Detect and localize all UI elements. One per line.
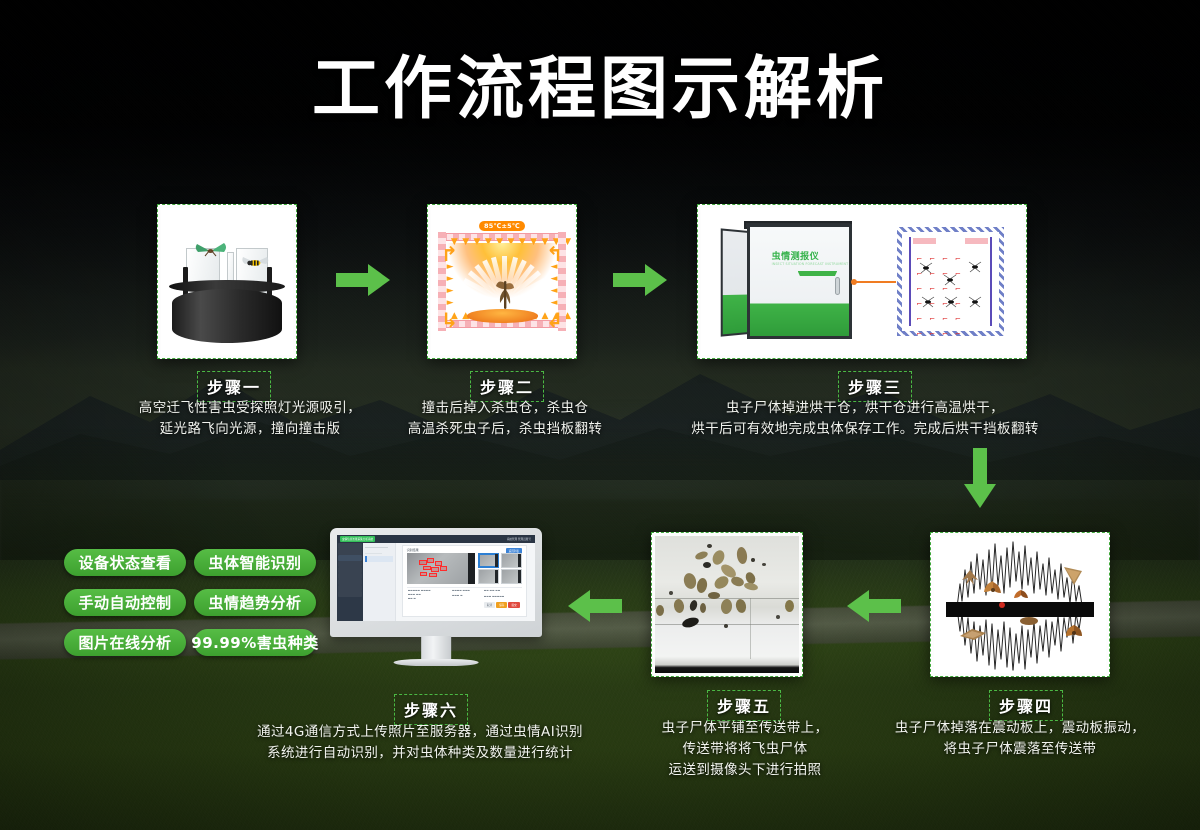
moth-specimen-7 — [1018, 613, 1040, 632]
step-3-description: 虫子尸体掉进烘干仓，烘干仓进行高温烘干， 烘干后可有效地完成虫体保存工作。完成后… — [645, 398, 1085, 440]
sidebar-item-active[interactable] — [338, 555, 362, 561]
sidebar-item[interactable] — [338, 573, 362, 579]
badge-device-status[interactable]: 设备状态查看 — [64, 549, 186, 576]
moth-specimen-6 — [1061, 622, 1087, 648]
step-1-image-card — [157, 204, 297, 359]
step-6-description: 通过4G通信方式上传照片至服务器，通过虫情AI识别 系统进行自动识别，并对虫体种… — [225, 722, 615, 764]
tray-fly-icon-4 — [920, 293, 936, 312]
step-5-label: 步骤五 — [707, 690, 781, 721]
detection-box — [440, 566, 447, 571]
callout-line — [854, 281, 896, 283]
app-record-list[interactable] — [363, 543, 397, 622]
collector-drum — [172, 289, 283, 343]
app-header: 虫情信息智能采集分析系统 系统管理 管理员账号 — [337, 535, 535, 543]
green-moth-icon — [193, 240, 229, 264]
specimen-tray: ⌐⌐⌐⌐ ⌐⌐⌐⌐ ⌐⌐⌐⌐ ⌐⌐⌐⌐ ⌐⌐⌐⌐ ⌐⌐⌐⌐ — [897, 227, 1003, 336]
monitor-neck — [421, 636, 451, 660]
dying-moth-icon — [491, 277, 519, 317]
belt-seam-vertical — [750, 598, 751, 660]
moth-specimen-4 — [1058, 563, 1086, 591]
tray-pink-bar-right — [965, 238, 988, 244]
detection-box — [435, 561, 443, 566]
cabinet-brand-label: 虫情测报仪 — [772, 249, 820, 262]
arrow-step5-to-step6 — [566, 588, 622, 624]
tray-fly-icon-5 — [943, 293, 959, 312]
submit-button[interactable]: 提交 — [508, 602, 519, 608]
sidebar-item[interactable] — [338, 543, 362, 549]
monitor-screen: 虫情信息智能采集分析系统 系统管理 管理员账号 — [337, 535, 535, 621]
kill-chamber-illustration: 85℃±5℃ ▼▼▼▼▼▼▼▼▼▼▼ ▲▲▲▲▲▲▲▲▲▲▲ ►►►► ◄◄◄◄… — [431, 208, 573, 355]
step-2-description: 撞击后掉入杀虫仓，杀虫仓 高温杀死虫子后，杀虫挡板翻转 — [380, 398, 630, 440]
detection-box — [423, 566, 431, 571]
sidebar-item[interactable] — [338, 591, 362, 597]
detection-box — [419, 560, 427, 565]
arrow-step3-to-step4 — [962, 448, 998, 510]
cabinet-brand-sublabel: INSECT SITUATION FORECAST INSTRUMENT — [772, 262, 849, 266]
form-field-row: ▬▬▬▬ ▬▬▬ — [452, 589, 470, 592]
tray-fly-icon-3 — [942, 271, 958, 290]
detection-box — [427, 558, 434, 563]
sidebar-item[interactable] — [338, 585, 362, 591]
thumbnail-selected[interactable] — [478, 553, 499, 568]
detection-box — [420, 572, 427, 576]
badge-insect-recognition[interactable]: 虫体智能识别 — [194, 549, 316, 576]
record-list-item-selected[interactable] — [365, 556, 394, 562]
monitor-base — [394, 659, 479, 667]
save-button[interactable]: 保存 — [496, 602, 507, 608]
page-title: 工作流程图示解析 — [0, 56, 1200, 124]
moth-specimen-1 — [958, 566, 982, 590]
step-6-monitor: 虫情信息智能采集分析系统 系统管理 管理员账号 — [330, 528, 542, 680]
wasp-icon — [240, 254, 272, 276]
form-field-row: ▬▬▬ ▬▬ — [408, 593, 421, 596]
monitor-bezel: 虫情信息智能采集分析系统 系统管理 管理员账号 — [330, 528, 542, 637]
step-2-image-card: 85℃±5℃ ▼▼▼▼▼▼▼▼▼▼▼ ▲▲▲▲▲▲▲▲▲▲▲ ►►►► ◄◄◄◄… — [427, 204, 577, 359]
tray-fly-icon-2 — [967, 258, 983, 277]
temperature-tag: 85℃±5℃ — [479, 221, 525, 231]
light-trap-illustration — [161, 208, 293, 355]
tray-fly-icon-1 — [918, 259, 934, 278]
drying-cabinet-illustration: 虫情测报仪 INSECT SITUATION FORECAST INSTRUME… — [701, 208, 1023, 355]
sidebar-item[interactable] — [338, 567, 362, 573]
sidebar-item[interactable] — [338, 579, 362, 585]
step-5-image-card — [651, 532, 803, 677]
corner-swirl-bottom-right: ↲ — [546, 311, 563, 329]
step-4-label: 步骤四 — [989, 690, 1063, 721]
image-dark-edge — [468, 553, 476, 584]
sidebar-item[interactable] — [338, 561, 362, 567]
tray-fly-icon-6 — [967, 293, 983, 312]
app-sidebar[interactable] — [337, 543, 363, 622]
thumbnail-grid — [478, 553, 522, 584]
step-4-description: 虫子尸体掉落在震动板上，震动板振动， 将虫子尸体震落至传送带 — [880, 718, 1160, 760]
app-header-actions[interactable]: 系统管理 管理员账号 — [507, 537, 531, 541]
detection-box — [429, 573, 437, 578]
corner-swirl-bottom-left: ↳ — [441, 311, 458, 329]
tray-rail-right — [990, 237, 992, 326]
form-field-row: ▬▬▬▬▬ ▬▬▬▬ — [408, 589, 431, 592]
form-field-row: ▬▬ ▬▬ ▬▬ — [484, 589, 500, 592]
detection-box — [431, 567, 439, 572]
sidebar-item[interactable] — [338, 549, 362, 555]
workflow-infographic: 工作流程图示解析 — [0, 0, 1200, 830]
thumbnail[interactable] — [501, 553, 522, 568]
step-1-description: 高空迁飞性害虫受探照灯光源吸引， 延光路飞向光源，撞向撞击版 — [85, 398, 415, 440]
cabinet-door-handle[interactable] — [835, 277, 840, 294]
panel-title: 识别结果 — [407, 548, 419, 552]
arrow-step4-to-step5 — [845, 588, 901, 624]
moth-specimen-3 — [1011, 587, 1031, 607]
badge-trend-analysis[interactable]: 虫情趋势分析 — [194, 589, 316, 616]
insect-forecast-cabinet: 虫情测报仪 INSECT SITUATION FORECAST INSTRUME… — [720, 224, 852, 339]
form-field-row: ▬▬▬ ▬ — [452, 594, 463, 597]
app-main-panel: 识别结果 返回列表 — [396, 543, 535, 622]
step-6-label: 步骤六 — [394, 694, 468, 725]
cabinet-green-stripe — [798, 271, 838, 276]
step-4-image-card — [930, 532, 1110, 677]
badge-manual-auto-control[interactable]: 手动自动控制 — [64, 589, 186, 616]
cabinet-side-panel — [721, 228, 749, 337]
cancel-button[interactable]: 取消 — [484, 602, 495, 608]
tray-pink-bar-left — [913, 238, 936, 244]
moth-specimen-5 — [958, 626, 988, 646]
red-speck — [998, 594, 1006, 613]
form-field-row: ▬▬ ▬ — [408, 597, 416, 600]
form-field-row: ▬▬▬ ▬▬▬▬▬ — [484, 595, 504, 598]
app-logo: 虫情信息智能采集分析系统 — [340, 536, 375, 542]
thumbnail[interactable] — [478, 569, 499, 584]
cabinet-front-door: 虫情测报仪 INSECT SITUATION FORECAST INSTRUME… — [747, 224, 853, 339]
arrow-step2-to-step3 — [613, 262, 669, 298]
tray-rail-left — [909, 237, 911, 326]
badge-online-image-analysis[interactable]: 图片在线分析 — [64, 629, 186, 656]
vibration-plate-photo — [934, 536, 1106, 673]
thumbnail[interactable] — [501, 569, 522, 584]
step-5-description: 虫子尸体平铺至传送带上， 传送带将将飞虫尸体 运送到摄像头下进行拍照 — [620, 718, 870, 781]
detection-main-image[interactable] — [407, 553, 476, 584]
arrow-step1-to-step2 — [336, 262, 392, 298]
badge-pest-species-accuracy[interactable]: 99.99%害虫种类 — [194, 629, 316, 656]
recognition-panel: 识别结果 返回列表 — [402, 545, 527, 617]
conveyor-belt-photo — [655, 536, 799, 673]
step-3-image-card: 虫情测报仪 INSECT SITUATION FORECAST INSTRUME… — [697, 204, 1027, 359]
